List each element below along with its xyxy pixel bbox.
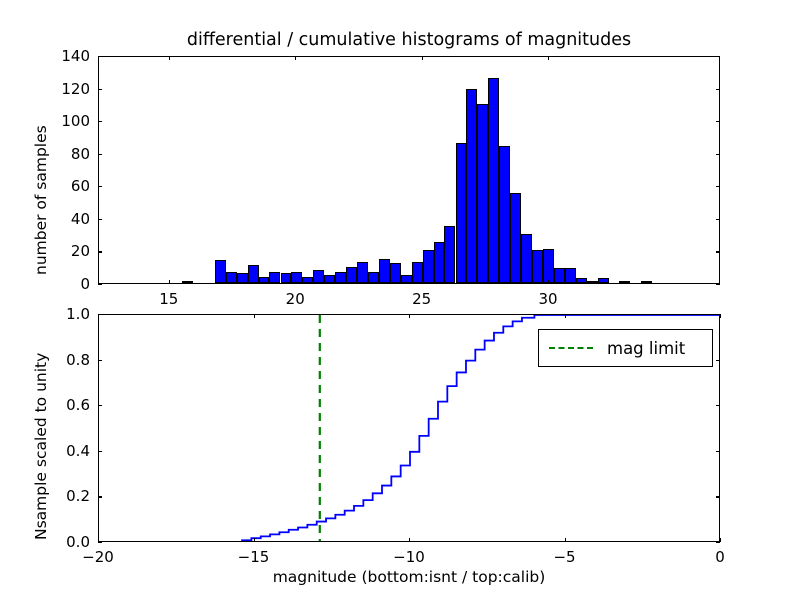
x-tick-label: 25 — [392, 290, 452, 308]
y-tick-mark-right — [716, 154, 720, 155]
y-tick-label: 20 — [30, 242, 90, 260]
y-tick-label: 0.2 — [30, 487, 90, 505]
histogram-bar — [259, 277, 270, 284]
x-tick-mark — [295, 280, 296, 284]
y-tick-mark — [98, 542, 102, 543]
differential-histogram-plot-area — [99, 57, 719, 283]
x-tick-mark-top — [720, 314, 721, 318]
y-tick-mark — [98, 284, 102, 285]
y-tick-mark-right — [716, 284, 720, 285]
histogram-bar — [313, 270, 324, 283]
histogram-bar — [641, 281, 652, 283]
y-tick-mark — [98, 56, 102, 57]
histogram-bar — [346, 267, 357, 283]
histogram-bar — [182, 281, 193, 283]
histogram-bar — [379, 259, 390, 283]
y-tick-mark-right — [716, 451, 720, 452]
y-tick-mark — [98, 314, 102, 315]
histogram-bar — [390, 263, 401, 283]
y-tick-label: 0.8 — [30, 351, 90, 369]
y-tick-mark — [98, 154, 102, 155]
histogram-bar — [488, 78, 499, 283]
x-tick-label: 15 — [139, 290, 199, 308]
histogram-bar — [434, 242, 445, 283]
x-tick-mark — [565, 538, 566, 542]
x-tick-mark-top — [169, 56, 170, 60]
y-tick-mark — [98, 405, 102, 406]
histogram-bar — [281, 273, 292, 283]
histogram-bar — [521, 234, 532, 283]
histogram-bar — [510, 193, 521, 283]
histogram-bar — [226, 272, 237, 283]
x-tick-label: −10 — [379, 548, 439, 566]
y-tick-label: 140 — [30, 47, 90, 65]
histogram-bar — [302, 277, 313, 284]
histogram-bar — [423, 250, 434, 283]
legend[interactable]: mag limit — [538, 329, 713, 367]
x-tick-mark-top — [409, 314, 410, 318]
x-tick-mark — [422, 280, 423, 284]
histogram-bar — [587, 281, 598, 283]
y-tick-mark — [98, 451, 102, 452]
y-tick-label: 60 — [30, 177, 90, 195]
bottom-axis-xlabel: magnitude (bottom:isnt / top:calib) — [98, 568, 720, 586]
y-tick-mark-right — [716, 219, 720, 220]
figure-title: differential / cumulative histograms of … — [98, 30, 720, 50]
histogram-bar — [368, 272, 379, 283]
x-tick-mark-top — [295, 56, 296, 60]
histogram-bar — [237, 273, 248, 283]
y-tick-mark-right — [716, 360, 720, 361]
y-tick-mark-right — [716, 314, 720, 315]
x-tick-mark — [548, 280, 549, 284]
x-tick-label: 30 — [518, 290, 578, 308]
histogram-bar — [444, 226, 455, 283]
histogram-bar — [532, 250, 543, 283]
y-tick-label: 80 — [30, 145, 90, 163]
y-tick-label: 0.0 — [30, 533, 90, 551]
x-tick-mark — [254, 538, 255, 542]
x-tick-mark — [409, 538, 410, 542]
y-tick-mark — [98, 186, 102, 187]
histogram-bar — [499, 146, 510, 283]
histogram-bar — [357, 262, 368, 283]
mag-limit-legend-swatch — [549, 347, 593, 349]
x-tick-label: 20 — [265, 290, 325, 308]
x-tick-mark-top — [422, 56, 423, 60]
histogram-bar — [291, 272, 302, 283]
x-tick-mark — [720, 538, 721, 542]
y-tick-label: 0.4 — [30, 442, 90, 460]
histogram-bar — [269, 272, 280, 283]
histogram-bar — [565, 268, 576, 283]
y-tick-mark-right — [716, 186, 720, 187]
histogram-bar — [401, 275, 412, 283]
histogram-bar — [477, 104, 488, 283]
y-tick-label: 100 — [30, 112, 90, 130]
x-tick-label: 0 — [690, 548, 750, 566]
matplotlib-figure: differential / cumulative histograms of … — [0, 0, 800, 600]
x-tick-mark-top — [254, 314, 255, 318]
differential-histogram-axes — [98, 56, 720, 284]
y-tick-mark-right — [716, 56, 720, 57]
y-tick-label: 0.6 — [30, 396, 90, 414]
histogram-bar — [619, 281, 630, 283]
y-tick-mark-right — [716, 496, 720, 497]
y-tick-mark-right — [716, 542, 720, 543]
histogram-bar — [598, 278, 609, 283]
y-tick-mark — [98, 219, 102, 220]
x-tick-mark-top — [548, 56, 549, 60]
y-tick-mark-right — [716, 121, 720, 122]
histogram-bar — [456, 143, 467, 283]
y-tick-label: 1.0 — [30, 305, 90, 323]
y-tick-mark-right — [716, 89, 720, 90]
x-tick-mark — [169, 280, 170, 284]
y-tick-label: 40 — [30, 210, 90, 228]
y-tick-mark-right — [716, 405, 720, 406]
histogram-bar — [543, 249, 554, 283]
y-tick-label: 120 — [30, 80, 90, 98]
histogram-bar — [324, 275, 335, 283]
histogram-bar — [335, 272, 346, 283]
histogram-bar — [248, 265, 259, 283]
y-tick-mark — [98, 496, 102, 497]
x-tick-label: −5 — [535, 548, 595, 566]
mag-limit-legend-label: mag limit — [607, 339, 685, 358]
histogram-bar — [215, 260, 226, 283]
x-tick-label: −15 — [224, 548, 284, 566]
histogram-bar — [554, 268, 565, 283]
y-tick-label: 0 — [30, 275, 90, 293]
y-tick-mark — [98, 360, 102, 361]
y-tick-mark — [98, 121, 102, 122]
x-tick-mark-top — [565, 314, 566, 318]
y-tick-mark — [98, 89, 102, 90]
y-tick-mark — [98, 251, 102, 252]
histogram-bar — [576, 278, 587, 283]
histogram-bar — [466, 89, 477, 283]
y-tick-mark-right — [716, 251, 720, 252]
